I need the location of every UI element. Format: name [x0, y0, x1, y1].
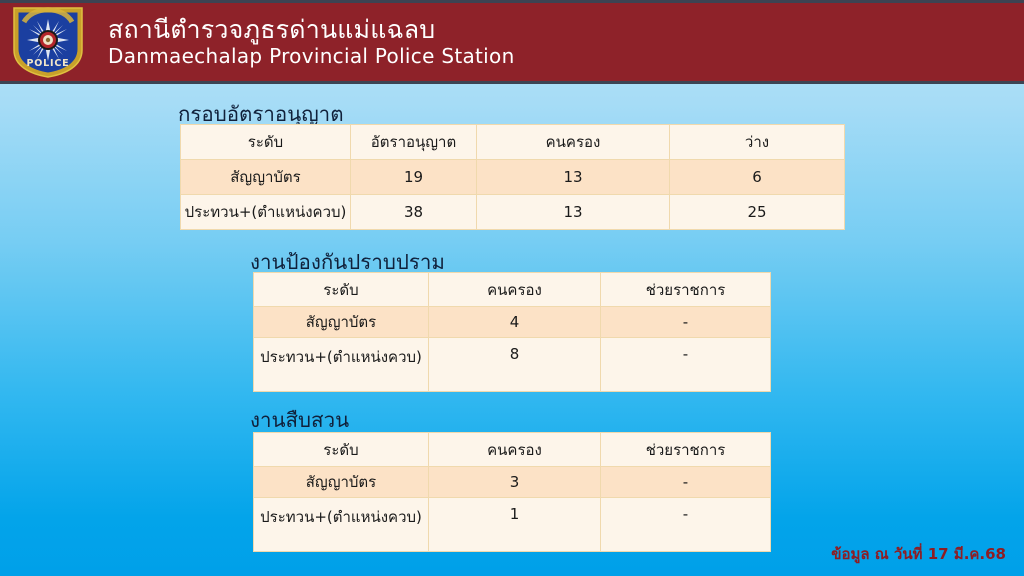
column-header-occupied: คนครอง: [429, 273, 601, 307]
cell-level: ประทวน+(ตำแหน่งควบ): [181, 195, 351, 230]
cell-level: สัญญาบัตร: [254, 467, 429, 498]
cell-authorized: 38: [351, 195, 477, 230]
table-header-row: ระดับ คนครอง ช่วยราชการ: [254, 433, 771, 467]
table-row: ประทวน+(ตำแหน่งควบ) 1 -: [254, 498, 771, 552]
table-header-row: ระดับ คนครอง ช่วยราชการ: [254, 273, 771, 307]
station-name-thai: สถานีตำรวจภูธรด่านแม่แฉลบ: [108, 16, 515, 44]
cell-occupied: 4: [429, 307, 601, 338]
column-header-occupied: คนครอง: [477, 125, 670, 160]
cell-occupied: 8: [429, 338, 601, 392]
page-header: POLICE สถานีตำรวจภูธรด่านแม่แฉลบ Danmaec…: [0, 0, 1024, 84]
data-as-of-note: ข้อมูล ณ วันที่ 17 มี.ค.68: [831, 542, 1006, 566]
cell-level: ประทวน+(ตำแหน่งควบ): [254, 338, 429, 392]
column-header-level: ระดับ: [254, 433, 429, 467]
column-header-occupied: คนครอง: [429, 433, 601, 467]
cell-level: สัญญาบัตร: [254, 307, 429, 338]
table-row: สัญญาบัตร 3 -: [254, 467, 771, 498]
table-row: ประทวน+(ตำแหน่งควบ) 38 13 25: [181, 195, 845, 230]
table-row: สัญญาบัตร 19 13 6: [181, 160, 845, 195]
cell-occupied: 3: [429, 467, 601, 498]
cell-seconded: -: [601, 307, 771, 338]
header-title-block: สถานีตำรวจภูธรด่านแม่แฉลบ Danmaechalap P…: [108, 16, 515, 68]
table-header-row: ระดับ อัตราอนุญาต คนครอง ว่าง: [181, 125, 845, 160]
table-quota: ระดับ อัตราอนุญาต คนครอง ว่าง สัญญาบัตร …: [180, 124, 845, 230]
cell-vacant: 6: [670, 160, 845, 195]
svg-text:POLICE: POLICE: [27, 58, 70, 69]
column-header-seconded: ช่วยราชการ: [601, 273, 771, 307]
column-header-seconded: ช่วยราชการ: [601, 433, 771, 467]
cell-occupied: 13: [477, 195, 670, 230]
column-header-authorized: อัตราอนุญาต: [351, 125, 477, 160]
table-prevention: ระดับ คนครอง ช่วยราชการ สัญญาบัตร 4 - ปร…: [253, 272, 771, 392]
cell-authorized: 19: [351, 160, 477, 195]
cell-seconded: -: [601, 498, 771, 552]
table-row: ประทวน+(ตำแหน่งควบ) 8 -: [254, 338, 771, 392]
cell-occupied: 1: [429, 498, 601, 552]
column-header-level: ระดับ: [254, 273, 429, 307]
cell-vacant: 25: [670, 195, 845, 230]
police-badge-icon: POLICE: [6, 4, 90, 80]
cell-seconded: -: [601, 338, 771, 392]
station-name-english: Danmaechalap Provincial Police Station: [108, 44, 515, 68]
column-header-level: ระดับ: [181, 125, 351, 160]
cell-level: ประทวน+(ตำแหน่งควบ): [254, 498, 429, 552]
cell-level: สัญญาบัตร: [181, 160, 351, 195]
table-investigation: ระดับ คนครอง ช่วยราชการ สัญญาบัตร 3 - ปร…: [253, 432, 771, 552]
column-header-vacant: ว่าง: [670, 125, 845, 160]
cell-occupied: 13: [477, 160, 670, 195]
table-row: สัญญาบัตร 4 -: [254, 307, 771, 338]
cell-seconded: -: [601, 467, 771, 498]
police-badge-logo: POLICE: [6, 4, 90, 80]
